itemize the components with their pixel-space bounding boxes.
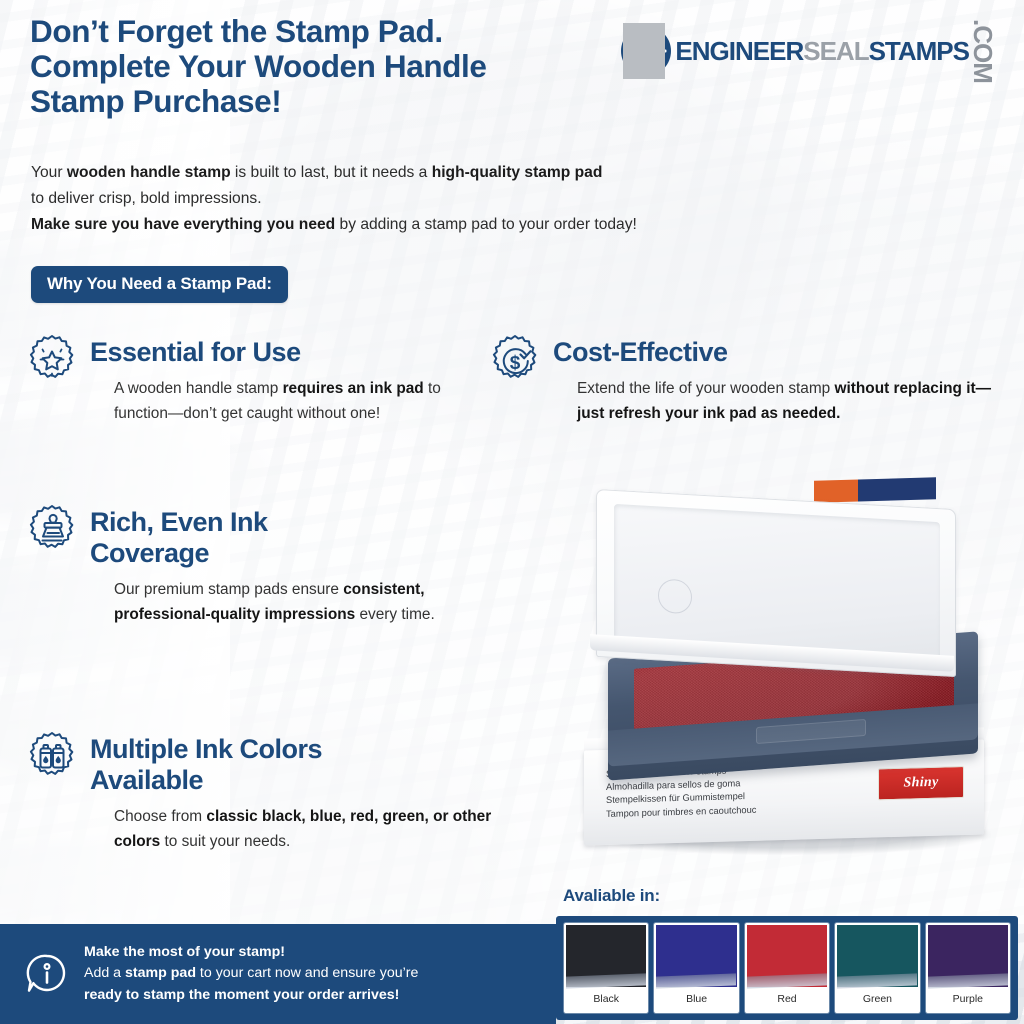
logo-word-engineer: ENGINEER xyxy=(675,36,803,67)
footer-emphasis: ready to stamp the moment your order arr… xyxy=(84,987,399,1003)
color-swatch-blue[interactable]: Blue xyxy=(654,923,738,1013)
feature-text: Choose from xyxy=(114,808,206,825)
color-swatch-black[interactable]: Black xyxy=(564,923,648,1013)
section-badge: Why You Need a Stamp Pad: xyxy=(31,266,288,303)
color-swatch-green[interactable]: Green xyxy=(835,923,919,1013)
feature-title-line-1: Multiple Ink Colors xyxy=(90,734,534,765)
intro-emphasis: Make sure you have everything you need xyxy=(31,216,335,233)
ess-gear-logo-icon: ESS xyxy=(617,23,673,79)
shiny-brand-label: Shiny xyxy=(904,775,939,792)
badge-ink-bottles-icon xyxy=(24,730,80,786)
footer-text-span: to your cart now and ensure you’re xyxy=(196,965,418,981)
feature-description: Our premium stamp pads ensure consistent… xyxy=(90,578,464,627)
footer-text: Make the most of your stamp! Add a stamp… xyxy=(84,942,418,1007)
feature-text: Extend the life of your wooden stamp xyxy=(577,380,835,397)
intro-emphasis: wooden handle stamp xyxy=(67,164,231,181)
footer-line-2: Add a stamp pad to your cart now and ens… xyxy=(84,963,418,985)
swatch-chip xyxy=(566,925,646,987)
feature-multiple-ink-colors: Multiple Ink Colors Available Choose fro… xyxy=(24,730,534,854)
brand-logo[interactable]: ESS ENGINEER SEAL STAMPS .COM xyxy=(617,24,996,78)
feature-text: A wooden handle stamp xyxy=(114,380,283,397)
badge-dollar-check-icon: $ xyxy=(487,333,543,389)
intro-text: is built to last, but it needs a xyxy=(231,164,432,181)
feature-title: Essential for Use xyxy=(90,337,494,368)
feature-description: A wooden handle stamp requires an ink pa… xyxy=(90,377,494,426)
feature-essential-for-use: Essential for Use A wooden handle stamp … xyxy=(24,333,494,426)
feature-title: Cost-Effective xyxy=(553,337,1007,368)
footer-cta: Make the most of your stamp! Add a stamp… xyxy=(0,924,556,1024)
intro-text: Your xyxy=(31,164,67,181)
shiny-brand-logo: Shiny xyxy=(878,766,964,800)
intro-text: by adding a stamp pad to your order toda… xyxy=(335,216,637,233)
feature-body: Cost-Effective Extend the life of your w… xyxy=(553,333,1007,426)
intro-line-2: to deliver crisp, bold impressions. xyxy=(31,186,911,212)
dollar-glyph: $ xyxy=(510,353,521,374)
feature-title-line-1: Rich, Even Ink xyxy=(90,507,464,538)
color-swatch-red[interactable]: Red xyxy=(745,923,829,1013)
infographic-page: Don’t Forget the Stamp Pad. Complete You… xyxy=(0,0,1024,1024)
logo-word-seal: SEAL xyxy=(803,36,868,67)
info-bubble-icon xyxy=(24,951,70,997)
product-photo: Stamp pad for rubber stamps Almohadilla … xyxy=(556,495,1008,880)
feature-body: Rich, Even Ink Coverage Our premium stam… xyxy=(90,503,464,627)
footer-line-3: ready to stamp the moment your order arr… xyxy=(84,985,418,1007)
footer-line-1: Make the most of your stamp! xyxy=(84,942,418,964)
available-in-title: Avaliable in: xyxy=(563,886,660,906)
feature-text: every time. xyxy=(355,606,435,623)
swatch-chip xyxy=(928,925,1008,987)
badge-stamp-icon xyxy=(24,503,80,559)
feature-description: Extend the life of your wooden stamp wit… xyxy=(553,377,1007,426)
header: Don’t Forget the Stamp Pad. Complete You… xyxy=(30,14,1000,119)
footer-text-span: Add a xyxy=(84,965,125,981)
intro-emphasis: high-quality stamp pad xyxy=(432,164,603,181)
swatch-label: Blue xyxy=(656,987,736,1011)
color-swatch-purple[interactable]: Purple xyxy=(926,923,1010,1013)
badge-star-icon xyxy=(24,333,80,389)
swatch-chip xyxy=(747,925,827,987)
swatch-chip xyxy=(837,925,917,987)
intro-paragraph: Your wooden handle stamp is built to las… xyxy=(31,160,911,238)
feature-body: Essential for Use A wooden handle stamp … xyxy=(90,333,494,426)
intro-line-3: Make sure you have everything you need b… xyxy=(31,212,911,238)
feature-title-line-2: Available xyxy=(90,765,534,796)
feature-text: Our premium stamp pads ensure xyxy=(114,581,343,598)
headline-line-2: Complete Your Wooden Handle xyxy=(30,49,670,84)
feature-body: Multiple Ink Colors Available Choose fro… xyxy=(90,730,534,854)
feature-title: Rich, Even Ink Coverage xyxy=(90,507,464,569)
headline-line-1: Don’t Forget the Stamp Pad. xyxy=(30,14,670,49)
logo-tld: .COM xyxy=(970,19,996,83)
feature-title: Multiple Ink Colors Available xyxy=(90,734,534,796)
swatch-label: Purple xyxy=(928,987,1008,1011)
feature-emphasis: requires an ink pad xyxy=(283,380,424,397)
logo-word-stamps: STAMPS xyxy=(869,36,969,67)
swatch-label: Green xyxy=(837,987,917,1011)
footer-emphasis: stamp pad xyxy=(125,965,196,981)
box-color-strip xyxy=(814,477,936,502)
feature-description: Choose from classic black, blue, red, gr… xyxy=(90,805,534,854)
swatch-chip xyxy=(656,925,736,987)
swatch-label: Black xyxy=(566,987,646,1011)
swatch-label: Red xyxy=(747,987,827,1011)
feature-rich-even-ink-coverage: Rich, Even Ink Coverage Our premium stam… xyxy=(24,503,464,627)
intro-line-1: Your wooden handle stamp is built to las… xyxy=(31,160,911,186)
feature-cost-effective: $ Cost-Effective Extend the life of your… xyxy=(487,333,1007,426)
feature-title-line-2: Coverage xyxy=(90,538,464,569)
page-title: Don’t Forget the Stamp Pad. Complete You… xyxy=(30,14,670,119)
headline-line-3: Stamp Purchase! xyxy=(30,84,670,119)
color-swatch-bar: Black Blue Red Green Purple xyxy=(556,916,1018,1020)
feature-text: to suit your needs. xyxy=(160,833,290,850)
